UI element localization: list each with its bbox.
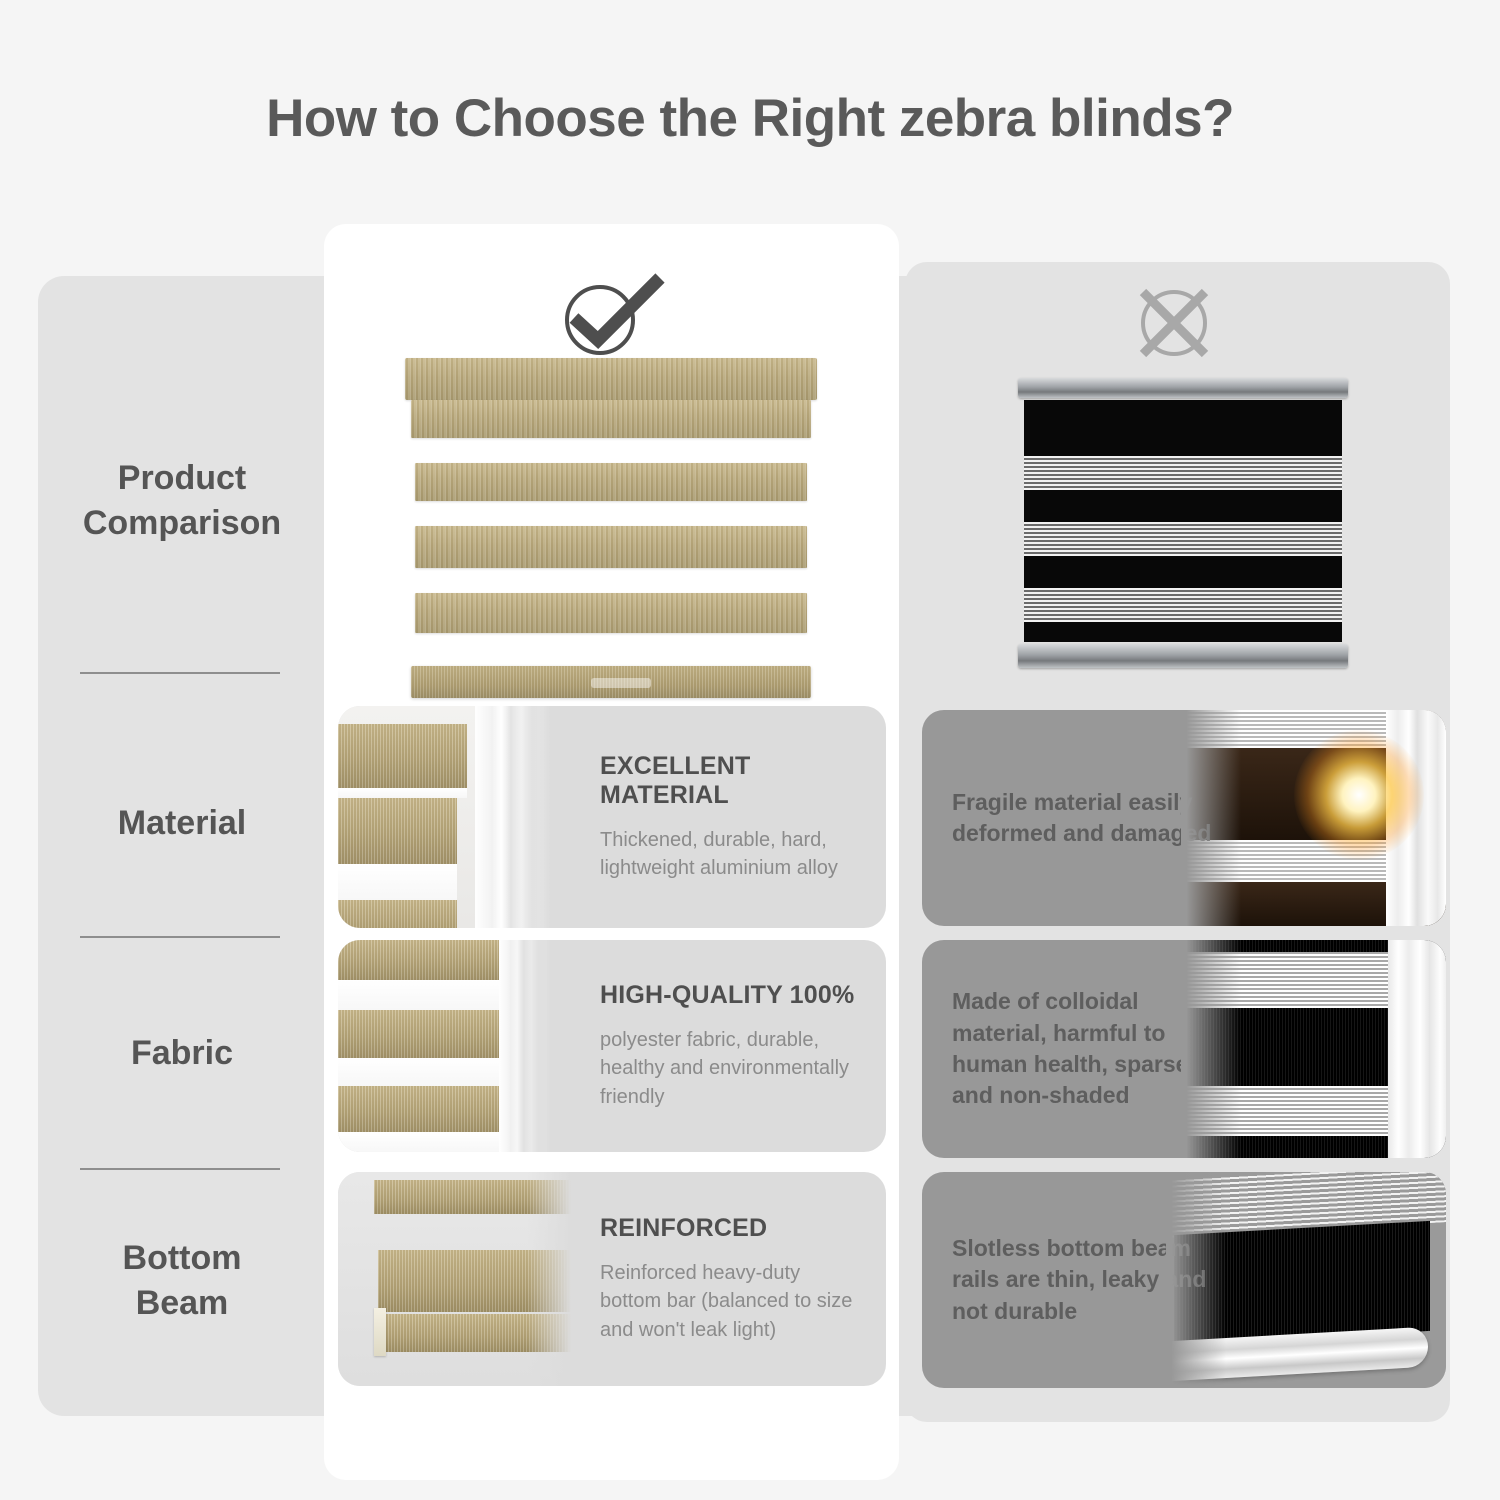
feature-text-block: REINFORCED Reinforced heavy-duty bottom …	[600, 1172, 866, 1386]
blind-mesh-stripe	[1024, 588, 1342, 622]
blind-slat	[415, 526, 807, 568]
feature-text-block: EXCELLENT MATERIAL Thickened, durable, h…	[600, 706, 866, 928]
blind-slat	[415, 463, 807, 501]
blind-slat	[415, 593, 807, 633]
page-title: How to Choose the Right zebra blinds?	[0, 88, 1500, 149]
row-label-line: Fabric	[131, 1034, 233, 1072]
reinforced-bottom-bar-closeup-photo	[338, 1172, 573, 1386]
bad-feature-card-bottom-beam: Slotless bottom beam rails are thin, lea…	[922, 1172, 1446, 1388]
feature-description: polyester fabric, durable, healthy and e…	[600, 1026, 866, 1111]
good-feature-card-bottom-beam: REINFORCED Reinforced heavy-duty bottom …	[338, 1172, 886, 1386]
feature-description: Reinforced heavy-duty bottom bar (balanc…	[600, 1259, 866, 1344]
row-label-column: Product Comparison Material Fabric Botto…	[38, 276, 326, 1416]
check-circle-icon	[552, 272, 672, 358]
blind-headrail	[405, 358, 817, 400]
feature-description: Thickened, durable, hard, lightweight al…	[600, 826, 866, 883]
row-label-line: Product Comparison	[83, 459, 281, 542]
wooden-blind-fabric-closeup-photo	[338, 940, 553, 1152]
row-divider-1	[80, 672, 280, 674]
blind-fabric	[1024, 400, 1342, 642]
bad-feature-card-fabric: Made of colloidal material, harmful to h…	[922, 940, 1446, 1158]
row-label-line: Material	[118, 804, 247, 842]
row-divider-2	[80, 936, 280, 938]
feature-title: EXCELLENT MATERIAL	[600, 752, 866, 810]
cross-circle-icon	[1126, 283, 1222, 363]
wooden-zebra-blind-image	[405, 358, 817, 698]
row-label-line: Bottom Beam	[123, 1239, 242, 1322]
blind-headrail	[1018, 378, 1348, 398]
blind-bottom-rail	[1018, 644, 1348, 668]
row-label-bottom-beam: Bottom Beam	[38, 1236, 326, 1326]
good-feature-card-material: EXCELLENT MATERIAL Thickened, durable, h…	[338, 706, 886, 928]
blind-mesh-stripe	[1024, 456, 1342, 490]
slotless-thin-bottom-rail-closeup-photo	[1166, 1172, 1446, 1388]
bad-feature-card-material: Fragile material easily deformed and dam…	[922, 710, 1446, 926]
good-feature-card-fabric: HIGH-QUALITY 100% polyester fabric, dura…	[338, 940, 886, 1152]
row-divider-3	[80, 1168, 280, 1170]
feature-text-block: HIGH-QUALITY 100% polyester fabric, dura…	[600, 940, 866, 1152]
feature-title: REINFORCED	[600, 1214, 866, 1243]
blind-bottom-bar	[411, 666, 811, 698]
row-label-fabric: Fabric	[38, 1031, 326, 1076]
blind-mesh-stripe	[1024, 522, 1342, 556]
feature-title: HIGH-QUALITY 100%	[600, 981, 866, 1010]
sparse-black-fabric-closeup-photo	[1181, 940, 1446, 1158]
row-label-material: Material	[38, 801, 326, 846]
sun-glare-through-damaged-blind-photo	[1181, 710, 1446, 926]
blind-slat	[411, 400, 811, 438]
wooden-blind-in-white-window-frame-photo	[338, 706, 553, 928]
black-zebra-blind-image	[1018, 378, 1348, 668]
row-label-product-comparison: Product Comparison	[38, 456, 326, 546]
